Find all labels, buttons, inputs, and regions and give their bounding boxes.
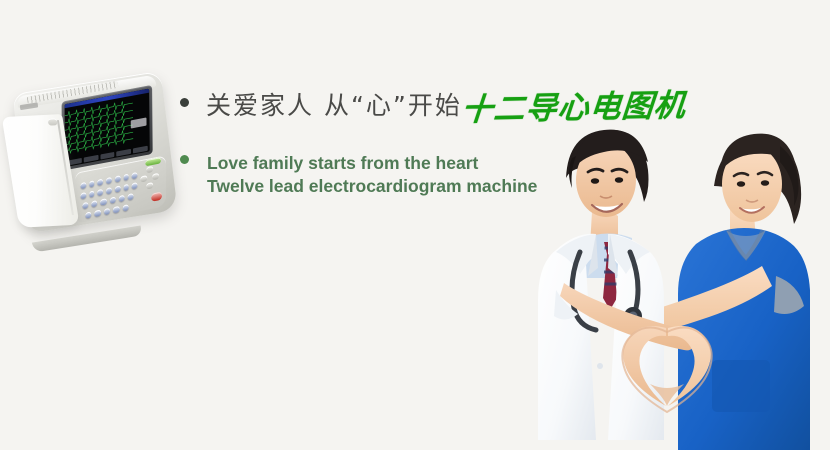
keypad-key[interactable]: [127, 193, 133, 200]
keypad-key[interactable]: [85, 211, 91, 218]
keypad-key[interactable]: [118, 194, 124, 201]
keypad-key[interactable]: [91, 200, 97, 207]
keypad-key[interactable]: [80, 192, 86, 199]
keypad-key[interactable]: [98, 188, 104, 195]
keypad-key[interactable]: [122, 204, 128, 211]
keypad-key[interactable]: [104, 207, 110, 214]
softkey[interactable]: [84, 155, 99, 163]
keypad-key[interactable]: [106, 176, 112, 183]
ecg-device-image: [2, 78, 178, 238]
softkey[interactable]: [133, 146, 148, 154]
keypad-key[interactable]: [115, 185, 121, 192]
keypad-key[interactable]: [98, 178, 104, 185]
stop-button[interactable]: [151, 192, 162, 202]
keypad-key[interactable]: [89, 180, 95, 187]
dpad-icon[interactable]: [140, 164, 160, 190]
dpad-left[interactable]: [140, 175, 147, 182]
keypad-key[interactable]: [123, 173, 129, 180]
dpad-right[interactable]: [152, 173, 159, 180]
keypad-key[interactable]: [123, 183, 129, 190]
ecg-screen: [65, 89, 150, 168]
keypad-key[interactable]: [95, 209, 101, 216]
softkey[interactable]: [100, 152, 115, 160]
dpad-down[interactable]: [146, 182, 153, 189]
keypad-key[interactable]: [113, 205, 119, 212]
subheadline-english: Love family starts from the heart Twelve…: [207, 152, 537, 198]
keypad-key[interactable]: [89, 190, 95, 197]
dpad-up[interactable]: [146, 166, 153, 173]
softkey[interactable]: [117, 149, 132, 157]
keypad-key[interactable]: [106, 187, 112, 194]
subheadline-line-2: Twelve lead electrocardiogram machine: [207, 175, 537, 198]
keypad-key[interactable]: [132, 171, 138, 178]
keypad-key[interactable]: [115, 175, 121, 182]
bullet-dot-icon: [180, 155, 189, 164]
ecg-product-banner: 关爱家人 从“心”开始 十二导心电图机 Love family starts f…: [0, 0, 830, 450]
keypad-key[interactable]: [109, 196, 115, 203]
medical-staff-photo: [500, 120, 830, 450]
keypad-key[interactable]: [82, 201, 88, 208]
bullet-dot-icon: [180, 98, 189, 107]
keypad-key[interactable]: [132, 182, 138, 189]
paper-tray-latch[interactable]: [48, 118, 58, 125]
headline-chinese: 关爱家人 从“心”开始: [206, 86, 462, 122]
keypad-key[interactable]: [80, 181, 86, 188]
keypad-key[interactable]: [100, 198, 106, 205]
subheadline-line-1: Love family starts from the heart: [207, 152, 537, 175]
